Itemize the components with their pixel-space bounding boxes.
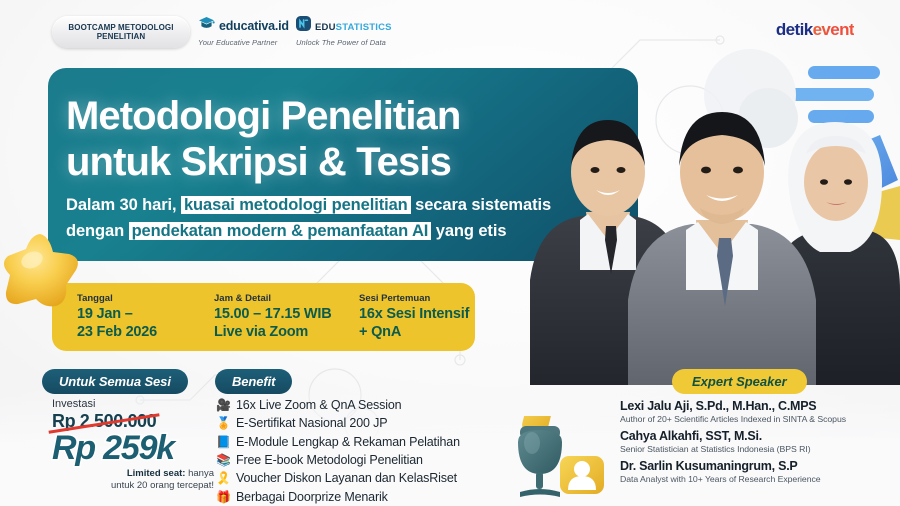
info-column-sesi: Sesi Pertemuan 16x Sesi Intensif + QnA: [359, 293, 469, 342]
speaker-name: Cahya Alkahfi, SST, M.Si.: [620, 429, 846, 443]
list-item: 📘 E-Module Lengkap & Rekaman Pelatihan: [216, 433, 460, 451]
info-value-jam: 15.00 – 17.15 WIB Live via Zoom: [214, 306, 359, 342]
subtitle-highlight-1: kuasai metodologi penelitian: [181, 196, 411, 214]
limited-seat-line2: untuk 20 orang tercepat!: [111, 480, 214, 491]
list-item: Cahya Alkahfi, SST, M.Si. Senior Statist…: [620, 429, 846, 454]
info-column-tanggal: Tanggal 19 Jan – 23 Feb 2026: [77, 293, 214, 342]
benefit-label: E-Module Lengkap & Rekaman Pelatihan: [236, 435, 460, 449]
info-label-jam: Jam & Detail: [214, 293, 359, 304]
expert-speaker-pill: Expert Speaker: [672, 369, 807, 394]
bootcamp-badge: BOOTCAMP METODOLOGI PENELITIAN: [52, 16, 190, 48]
header: BOOTCAMP METODOLOGI PENELITIAN educativa…: [0, 0, 900, 56]
subtitle-text-c: dengan: [66, 222, 124, 240]
benefit-label: E-Sertifikat Nasional 200 JP: [236, 416, 387, 430]
speaker-name: Dr. Sarlin Kusumaningrum, S.P: [620, 459, 846, 473]
detik-word: detik: [776, 20, 813, 39]
info-value-tanggal: 19 Jan – 23 Feb 2026: [77, 306, 214, 342]
speaker-list: Lexi Jalu Aji, S.Pd., M.Han., C.MPS Auth…: [620, 399, 846, 489]
info-label-sesi: Sesi Pertemuan: [359, 293, 469, 304]
limited-seat-note: Limited seat: hanya untuk 20 orang terce…: [52, 468, 214, 493]
new-price: Rp 259k: [52, 431, 217, 465]
info-jam-line1: 15.00 – 17.15 WIB: [214, 306, 359, 324]
hero-subtitle: Dalam 30 hari, kuasai metodologi penelit…: [66, 193, 551, 244]
info-sesi-line1: 16x Sesi Intensif: [359, 306, 469, 324]
speaker-role: Senior Statistician at Statistics Indone…: [620, 444, 846, 454]
blue-book-icon: 📘: [216, 436, 230, 448]
info-value-sesi: 16x Sesi Intensif + QnA: [359, 306, 469, 342]
list-item: 🏅 E-Sertifikat Nasional 200 JP: [216, 414, 460, 432]
wave-logo-icon: [296, 16, 311, 36]
benefit-label: Free E-book Metodologi Penelitian: [236, 453, 423, 467]
list-item: 🎗️ Voucher Diskon Layanan dan KelasRiset: [216, 469, 460, 487]
speaker-photos: [520, 40, 900, 385]
speaker-role: Data Analyst with 10+ Years of Research …: [620, 474, 846, 484]
price-block: Investasi Rp 2.500.000 Rp 259k Limited s…: [52, 398, 217, 493]
info-jam-line2: Live via Zoom: [214, 324, 359, 342]
event-word: event: [813, 20, 854, 39]
edustatistics-tagline: Unlock The Power of Data: [296, 38, 392, 47]
benefit-label: 16x Live Zoom & QnA Session: [236, 398, 401, 412]
list-item: 🎥 16x Live Zoom & QnA Session: [216, 396, 460, 414]
list-item: Dr. Sarlin Kusumaningrum, S.P Data Analy…: [620, 459, 846, 484]
bootcamp-badge-label: BOOTCAMP METODOLOGI PENELITIAN: [52, 23, 190, 42]
subtitle-text-a: Dalam 30 hari,: [66, 196, 177, 214]
event-info-bar: Tanggal 19 Jan – 23 Feb 2026 Jam & Detai…: [52, 283, 475, 351]
hero-title-line1: Metodologi Penelitian: [66, 94, 460, 140]
info-sesi-line2: + QnA: [359, 324, 469, 342]
benefit-list: 🎥 16x Live Zoom & QnA Session 🏅 E-Sertif…: [216, 396, 460, 506]
page-title: Metodologi Penelitian untuk Skripsi & Te…: [66, 94, 460, 185]
benefit-label: Voucher Diskon Layanan dan KelasRiset: [236, 471, 457, 485]
gift-icon: 🎁: [216, 491, 230, 503]
video-camera-icon: 🎥: [216, 399, 230, 411]
speaker-role: Author of 20+ Scientific Articles Indexe…: [620, 414, 846, 424]
medal-icon: 🏅: [216, 417, 230, 429]
educativa-logo-tagline: Your Educative Partner: [198, 38, 289, 47]
info-column-jam: Jam & Detail 15.00 – 17.15 WIB Live via …: [214, 293, 359, 342]
speaker-name: Lexi Jalu Aji, S.Pd., M.Han., C.MPS: [620, 399, 846, 413]
limited-seat-rest: hanya: [185, 468, 214, 479]
info-label-tanggal: Tanggal: [77, 293, 214, 304]
hero-subtitle-line1: Dalam 30 hari, kuasai metodologi penelit…: [66, 193, 551, 219]
subtitle-text-d: yang etis: [436, 222, 507, 240]
benefit-label: Berbagai Doorprize Menarik: [236, 490, 388, 504]
detikevent-logo: detikevent: [776, 20, 854, 40]
benefit-pill: Benefit: [215, 369, 292, 394]
educativa-logo-name: educativa.id: [219, 19, 289, 33]
subtitle-highlight-2: pendekatan modern & pemanfaatan AI: [129, 222, 432, 240]
edustatistics-logo: EDUSTATISTICS Unlock The Power of Data: [296, 16, 392, 47]
books-icon: 📚: [216, 454, 230, 466]
info-tanggal-line1: 19 Jan –: [77, 306, 214, 324]
graduation-cap-icon: [198, 16, 215, 36]
subtitle-text-b: secara sistematis: [415, 196, 551, 214]
old-price: Rp 2.500.000: [52, 411, 156, 432]
list-item: Lexi Jalu Aji, S.Pd., M.Han., C.MPS Auth…: [620, 399, 846, 424]
limited-seat-bold: Limited seat:: [127, 468, 186, 479]
hero-title-line2: untuk Skripsi & Tesis: [66, 140, 460, 186]
investasi-label: Investasi: [52, 398, 217, 410]
edustatistics-edu: EDU: [315, 22, 336, 33]
hero-subtitle-line2: dengan pendekatan modern & pemanfaatan A…: [66, 219, 551, 245]
untuk-semua-sesi-pill: Untuk Semua Sesi: [42, 369, 188, 394]
edustatistics-statistics: STATISTICS: [336, 22, 392, 33]
list-item: 🎁 Berbagai Doorprize Menarik: [216, 487, 460, 505]
list-item: 📚 Free E-book Metodologi Penelitian: [216, 451, 460, 469]
educativa-logo: educativa.id Your Educative Partner: [198, 16, 289, 47]
info-tanggal-line2: 23 Feb 2026: [77, 324, 214, 342]
microphone-decoration: [498, 416, 624, 506]
rosette-icon: 🎗️: [216, 472, 230, 484]
